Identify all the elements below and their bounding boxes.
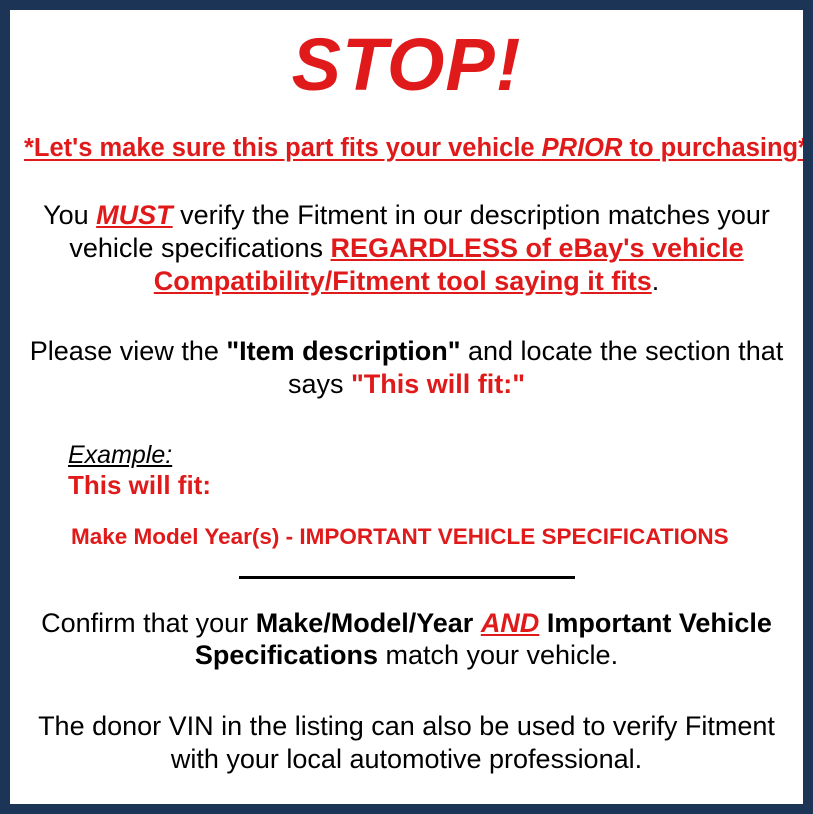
emphasis-must: MUST	[96, 200, 173, 230]
tagline-emphasis-prior: PRIOR	[542, 134, 623, 162]
tagline-part1: *Let's make sure this part fits your veh…	[24, 134, 542, 162]
paragraph-confirm-match: Confirm that your Make/Model/Year AND Im…	[24, 579, 789, 672]
example-label: Example:	[68, 441, 789, 469]
example-fit-heading: This will fit:	[68, 470, 789, 501]
confirm-seg2: match your vehicle.	[378, 640, 618, 670]
confirm-space1	[473, 608, 481, 638]
example-block: Example: This will fit: Make Model Year(…	[24, 401, 789, 550]
emphasis-item-description: "Item description"	[226, 336, 460, 366]
paragraph-donor-vin: The donor VIN in the listing can also be…	[24, 672, 789, 775]
verify-seg3: .	[652, 266, 660, 296]
emphasis-and: AND	[481, 608, 540, 638]
emphasis-this-will-fit: "This will fit:"	[351, 369, 525, 399]
fitment-notice-card: STOP! *Let's make sure this part fits yo…	[0, 0, 813, 814]
confirm-seg1: Confirm that your	[41, 608, 256, 638]
confirm-space2	[539, 608, 547, 638]
tagline-part2: to purchasing*	[622, 134, 808, 162]
paragraph-verify-fitment: You MUST verify the Fitment in our descr…	[24, 163, 789, 297]
thank-you-line: Thank you for confirming Fitment!	[24, 775, 789, 814]
notice-content: STOP! *Let's make sure this part fits yo…	[10, 10, 803, 804]
divider-wrap	[24, 550, 789, 579]
example-spec-line: Make Model Year(s) - IMPORTANT VEHICLE S…	[68, 501, 789, 550]
stop-title: STOP!	[24, 10, 789, 106]
view-seg1: Please view the	[30, 336, 227, 366]
tagline: *Let's make sure this part fits your veh…	[24, 106, 789, 163]
emphasis-make-model-year: Make/Model/Year	[256, 608, 474, 638]
paragraph-view-description: Please view the "Item description" and l…	[24, 297, 789, 400]
horizontal-divider	[239, 576, 575, 579]
verify-seg1: You	[43, 200, 96, 230]
